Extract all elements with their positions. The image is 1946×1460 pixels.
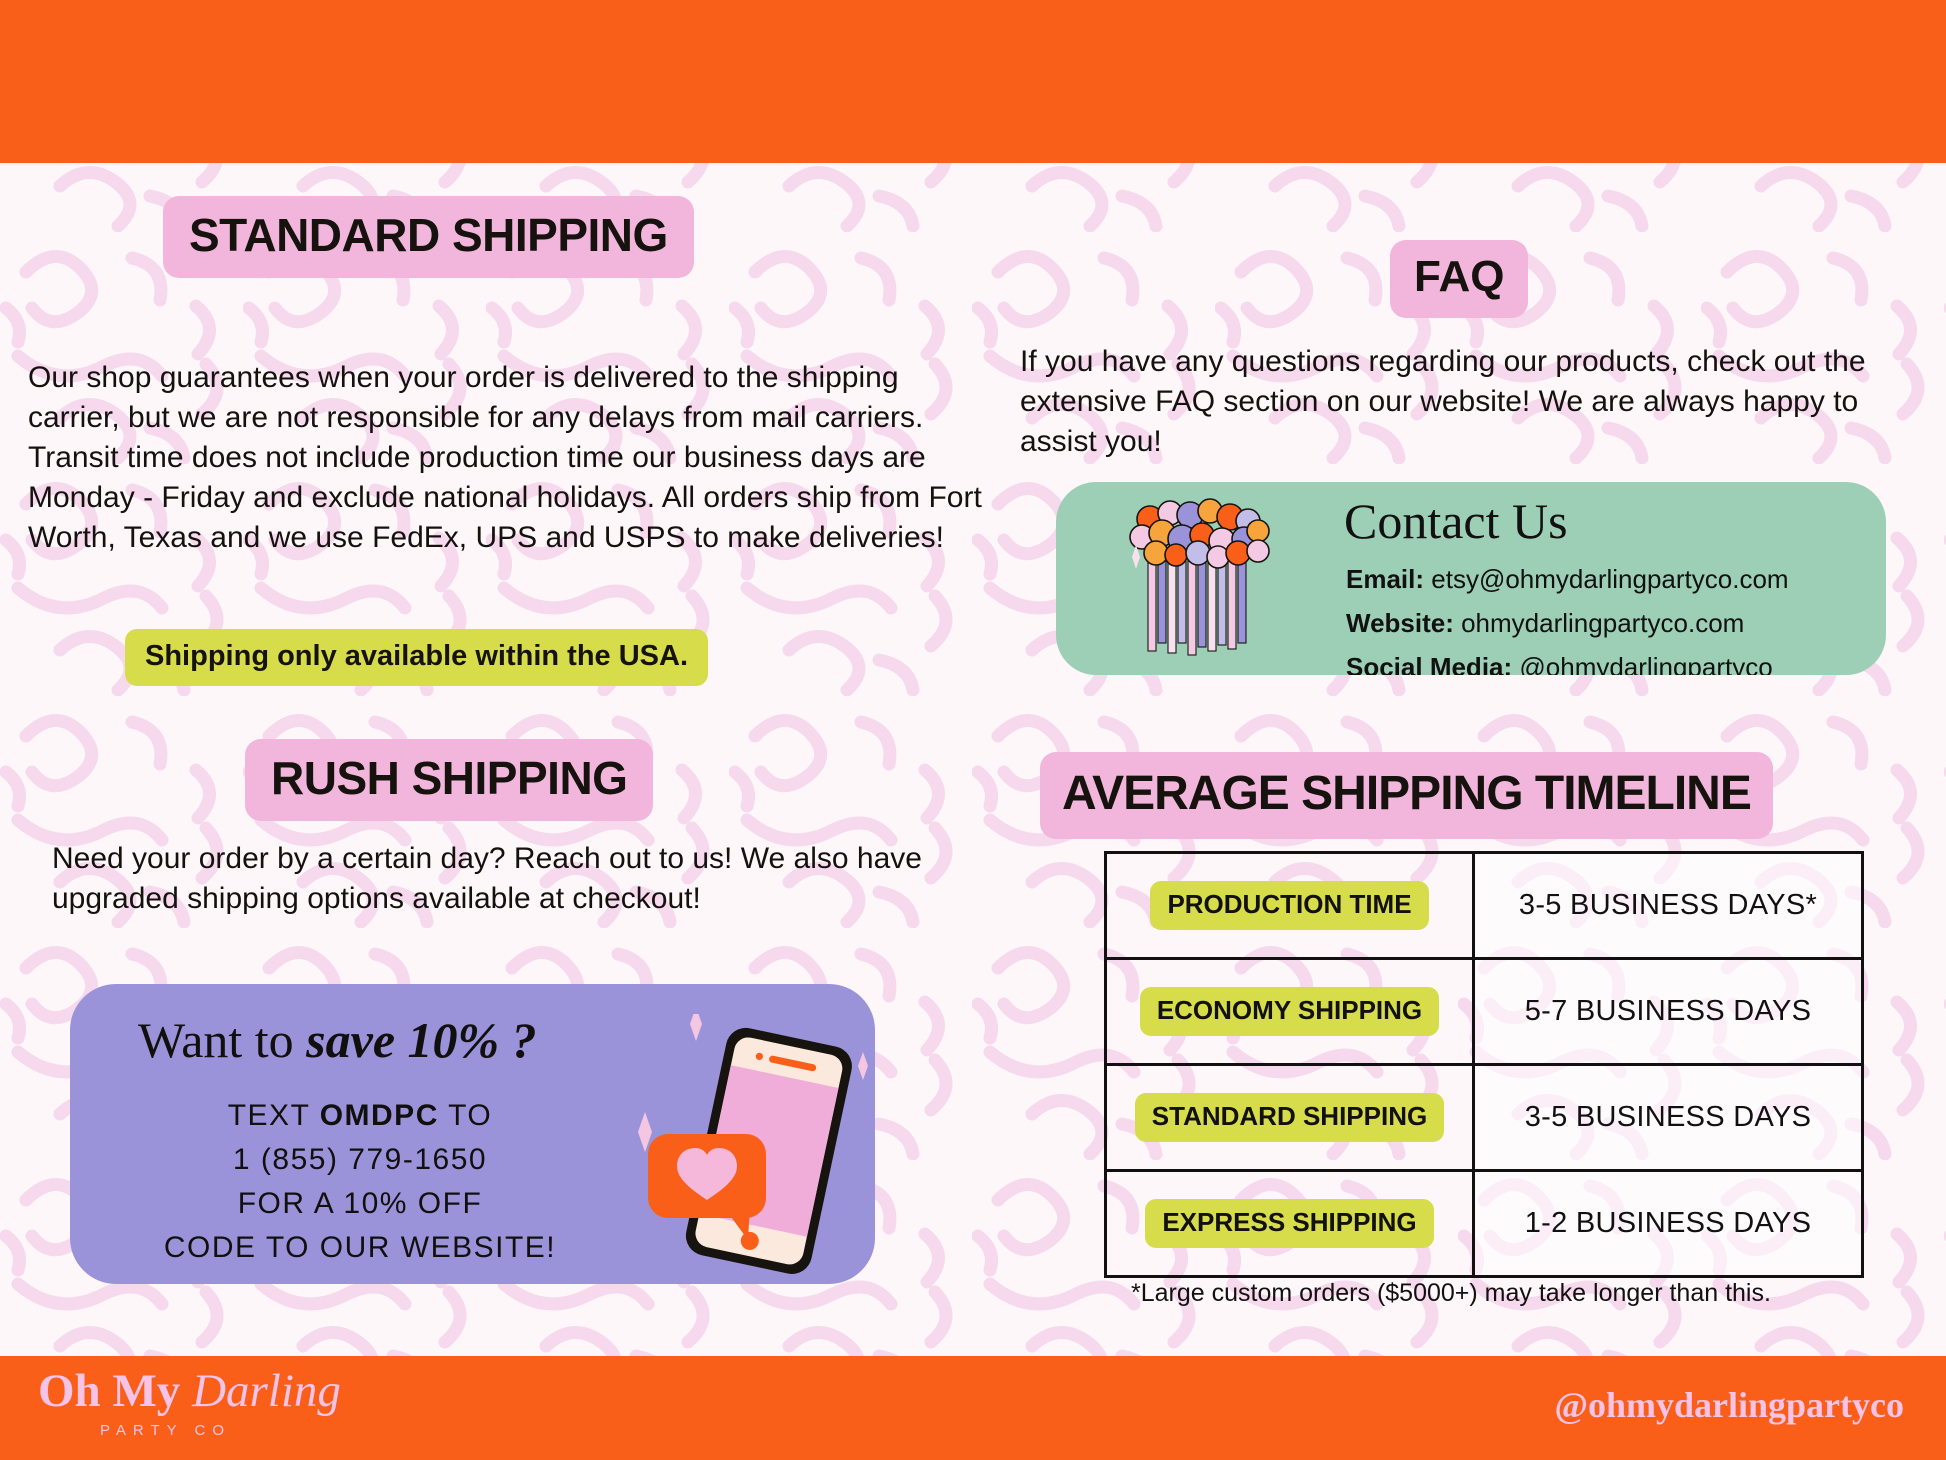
usa-only-note: Shipping only available within the USA. (125, 629, 708, 686)
promo-keyword: OMDPC (320, 1099, 439, 1132)
phone-message-illustration (630, 1014, 875, 1284)
promo-line-4: CODE TO OUR WEBSITE! (80, 1226, 640, 1270)
faq-paragraph: If you have any questions regarding our … (1020, 342, 1920, 462)
contact-title: Contact Us (1344, 492, 1568, 550)
contact-social-value: @ohmydarlingpartyco (1512, 652, 1773, 675)
table-cell-label: STANDARD SHIPPING (1106, 1065, 1474, 1171)
brand-logo-darling: Darling (180, 1365, 341, 1417)
table-row: EXPRESS SHIPPING 1-2 BUSINESS DAYS (1106, 1171, 1863, 1277)
contact-email-label: Email: (1346, 564, 1424, 594)
row-label-pill: EXPRESS SHIPPING (1145, 1199, 1433, 1248)
table-row: STANDARD SHIPPING 3-5 BUSINESS DAYS (1106, 1065, 1863, 1171)
promo-line1-post: TO (439, 1099, 492, 1132)
contact-website-value: ohmydarlingpartyco.com (1454, 608, 1744, 638)
brand-logo-main: Oh My Darling (38, 1368, 341, 1415)
table-cell-value: 3-5 BUSINESS DAYS* (1474, 853, 1863, 959)
promo-title-prefix: Want to (138, 1012, 306, 1068)
contact-email-row: Email: etsy@ohmydarlingpartyco.com (1346, 564, 1789, 595)
table-row: PRODUCTION TIME 3-5 BUSINESS DAYS* (1106, 853, 1863, 959)
row-label-pill: STANDARD SHIPPING (1135, 1093, 1444, 1142)
contact-website-label: Website: (1346, 608, 1454, 638)
timeline-table-body: PRODUCTION TIME 3-5 BUSINESS DAYS* ECONO… (1106, 853, 1863, 1277)
social-handle: @ohmydarlingpartyco (1555, 1384, 1905, 1426)
contact-email-value: etsy@ohmydarlingpartyco.com (1424, 564, 1789, 594)
promo-instructions: TEXT OMDPC TO 1 (855) 779-1650 FOR A 10%… (80, 1094, 640, 1270)
table-cell-label: ECONOMY SHIPPING (1106, 959, 1474, 1065)
promo-phone-number: 1 (855) 779-1650 (80, 1138, 640, 1182)
header-bar (0, 0, 1946, 163)
promo-title-emphasis: save 10% ? (306, 1012, 537, 1068)
contact-social-label: Social Media: (1346, 652, 1512, 675)
brand-logo: Oh My Darling PARTY CO (38, 1368, 341, 1438)
row-label-pill: ECONOMY SHIPPING (1140, 987, 1439, 1036)
promo-line-1: TEXT OMDPC TO (80, 1094, 640, 1138)
table-cell-value: 5-7 BUSINESS DAYS (1474, 959, 1863, 1065)
brand-logo-ohmy: Oh My (38, 1365, 180, 1417)
contact-card: Contact Us Email: etsy@ohmydarlingpartyc… (1056, 482, 1886, 675)
shipping-timeline-table: PRODUCTION TIME 3-5 BUSINESS DAYS* ECONO… (1104, 851, 1864, 1278)
row-label-pill: PRODUCTION TIME (1150, 881, 1428, 930)
table-cell-value: 3-5 BUSINESS DAYS (1474, 1065, 1863, 1171)
contact-social-row: Social Media: @ohmydarlingpartyco (1346, 652, 1773, 675)
promo-line1-pre: TEXT (228, 1099, 320, 1132)
promo-title: Want to save 10% ? (138, 1011, 537, 1069)
brand-logo-subtitle: PARTY CO (100, 1423, 341, 1438)
rush-shipping-paragraph: Need your order by a certain day? Reach … (52, 839, 972, 919)
standard-shipping-heading: STANDARD SHIPPING (163, 196, 694, 278)
table-cell-label: EXPRESS SHIPPING (1106, 1171, 1474, 1277)
promo-line-3: FOR A 10% OFF (80, 1182, 640, 1226)
standard-shipping-paragraph: Our shop guarantees when your order is d… (28, 358, 988, 558)
faq-heading: FAQ (1390, 240, 1528, 318)
faq-information-poster: FAQ Information STANDARD SHIPPING Our sh… (0, 0, 1946, 1460)
table-row: ECONOMY SHIPPING 5-7 BUSINESS DAYS (1106, 959, 1863, 1065)
table-footnote: *Large custom orders ($5000+) may take l… (1131, 1279, 1771, 1308)
promo-card: Want to save 10% ? TEXT OMDPC TO 1 (855)… (70, 984, 875, 1284)
contact-website-row: Website: ohmydarlingpartyco.com (1346, 608, 1744, 639)
table-cell-label: PRODUCTION TIME (1106, 853, 1474, 959)
timeline-heading: AVERAGE SHIPPING TIMELINE (1040, 752, 1773, 839)
balloon-garland-illustration (1112, 495, 1282, 665)
rush-shipping-heading: RUSH SHIPPING (245, 739, 653, 821)
table-cell-value: 1-2 BUSINESS DAYS (1474, 1171, 1863, 1277)
